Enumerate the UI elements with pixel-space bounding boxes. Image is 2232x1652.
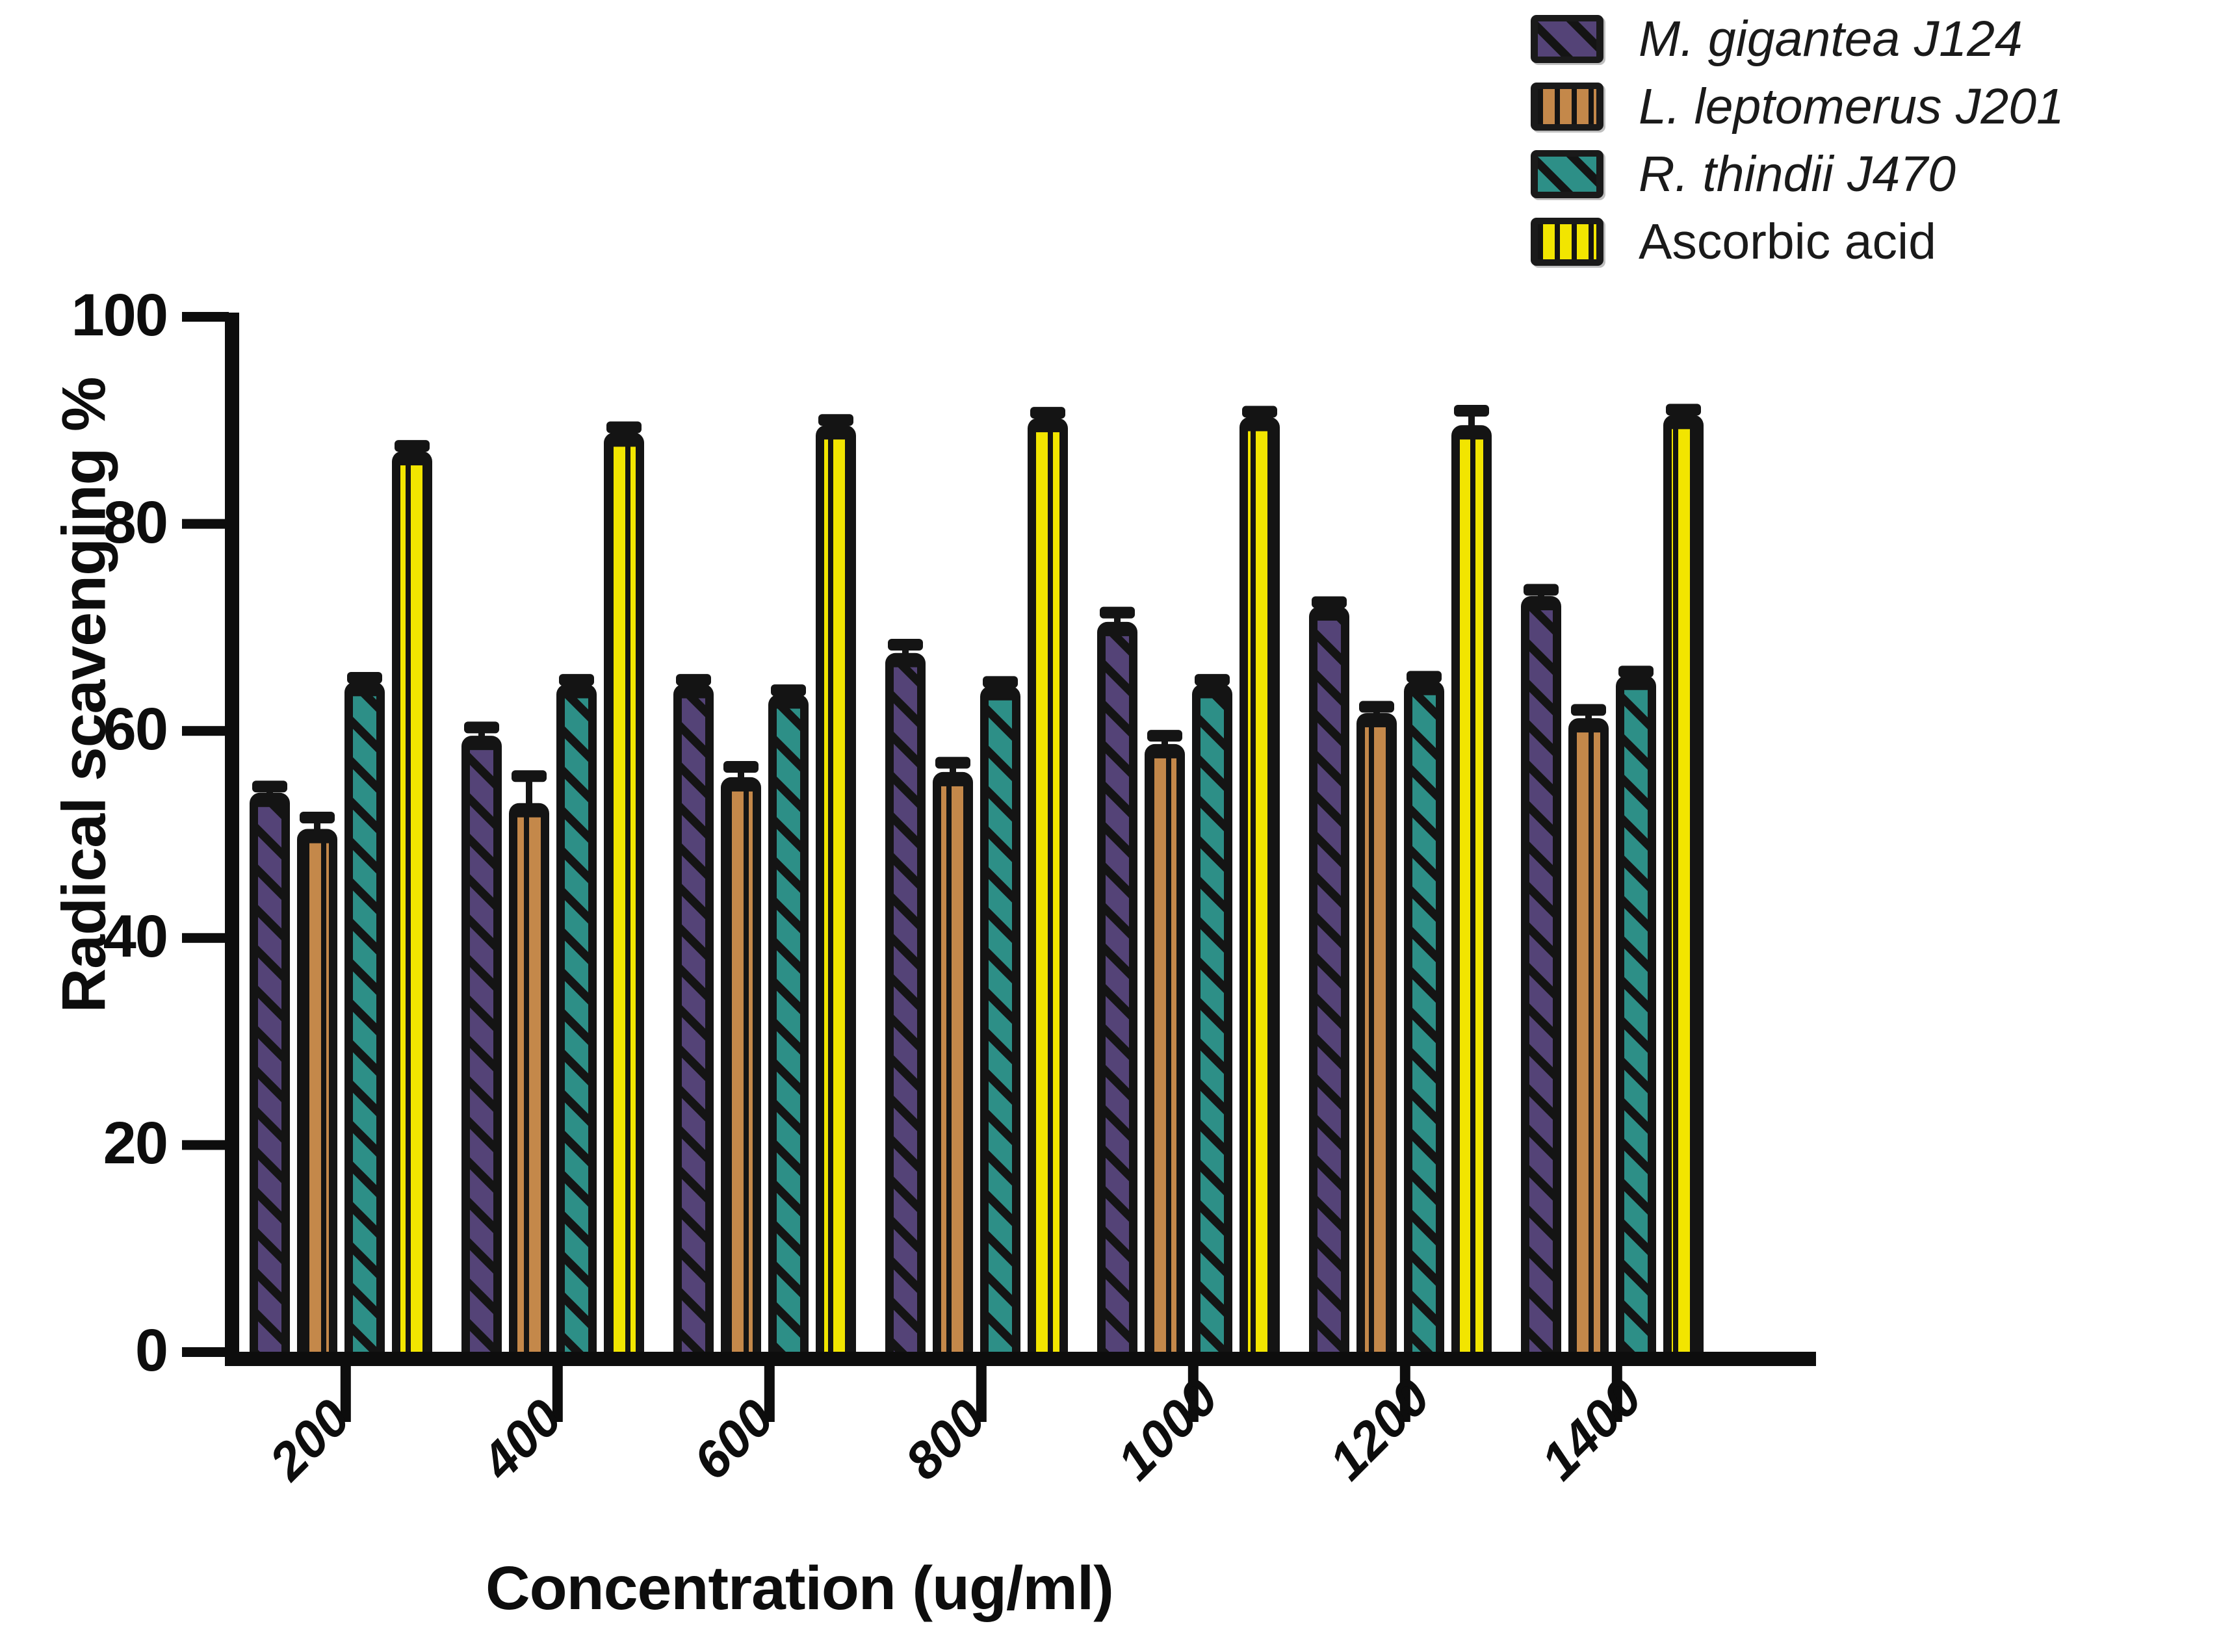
bar-fill [1153,758,1176,1352]
y-tick-label: 80 [0,493,167,552]
bar-fill [1200,699,1224,1352]
bar-fill [894,667,917,1352]
error-bar-cap [1030,407,1065,419]
error-bar-cap [512,770,547,782]
bar-fill [1577,732,1600,1352]
error-bar-cap [1618,665,1654,677]
error-bar-cap [1195,674,1230,686]
y-tick-label: 60 [0,699,167,759]
bar-fill [353,696,376,1352]
x-axis-title: Concentration (ug/ml) [214,1553,1384,1624]
bar-fill [941,786,965,1352]
bar-chart [0,0,2232,1649]
bar-fill [1624,690,1648,1352]
plot-svg [0,0,2232,1649]
error-bar-cap [1407,671,1442,682]
bar-fill [824,439,848,1352]
bar-fill [1365,727,1388,1352]
error-bar-cap [1147,730,1182,742]
error-bar-cap [252,781,287,792]
bar-fill [400,465,424,1352]
y-tick [182,1347,229,1357]
bar-fill [470,750,493,1352]
error-bar-cap [1666,404,1701,415]
error-bar-cap [464,721,499,733]
y-tick [182,726,229,736]
bar-fill [1317,621,1341,1352]
error-bar-cap [1454,405,1489,417]
error-bar-cap [1312,597,1347,608]
error-bar-cap [606,421,642,433]
bar-fill [305,844,329,1352]
error-bar-cap [1100,607,1135,619]
y-tick-label: 20 [0,1113,167,1173]
bar-fill [729,792,753,1352]
bar-fill [1529,610,1553,1352]
error-bar-cap [1359,701,1394,713]
error-bar-cap [1571,704,1606,716]
bar-fill [517,818,541,1352]
bar-fill [989,701,1012,1352]
error-bar-cap [395,440,430,452]
error-bar-cap [347,672,382,684]
bar-fill [565,699,588,1352]
bar-fill [1036,432,1059,1352]
y-tick-label: 0 [0,1321,167,1380]
error-bar-cap [888,639,923,651]
error-bar-cap [1524,584,1559,596]
bar-fill [682,699,705,1352]
y-tick-label: 100 [0,285,167,345]
y-tick [182,933,229,943]
bar-fill [1460,439,1483,1352]
y-tick [182,312,229,322]
error-bar-cap [983,676,1018,688]
error-bar-cap [723,761,759,773]
y-tick-label: 40 [0,907,167,966]
y-axis-line [225,313,239,1356]
x-axis-line [225,1352,1816,1366]
error-bar-cap [771,684,806,696]
error-bar-cap [1242,406,1277,418]
bar-fill [777,708,800,1352]
bar-fill [612,446,636,1352]
error-bar-cap [300,812,335,823]
bar-fill [1106,636,1129,1352]
error-bar-cap [818,414,853,426]
error-bar-cap [935,757,970,769]
bar-fill [1248,432,1271,1352]
bar-fill [1412,695,1436,1352]
bar-fill [1672,429,1695,1352]
error-bar-cap [676,674,711,686]
bar-fill [258,807,281,1352]
y-tick [182,519,229,529]
error-bar-cap [559,674,594,686]
y-tick [182,1140,229,1150]
